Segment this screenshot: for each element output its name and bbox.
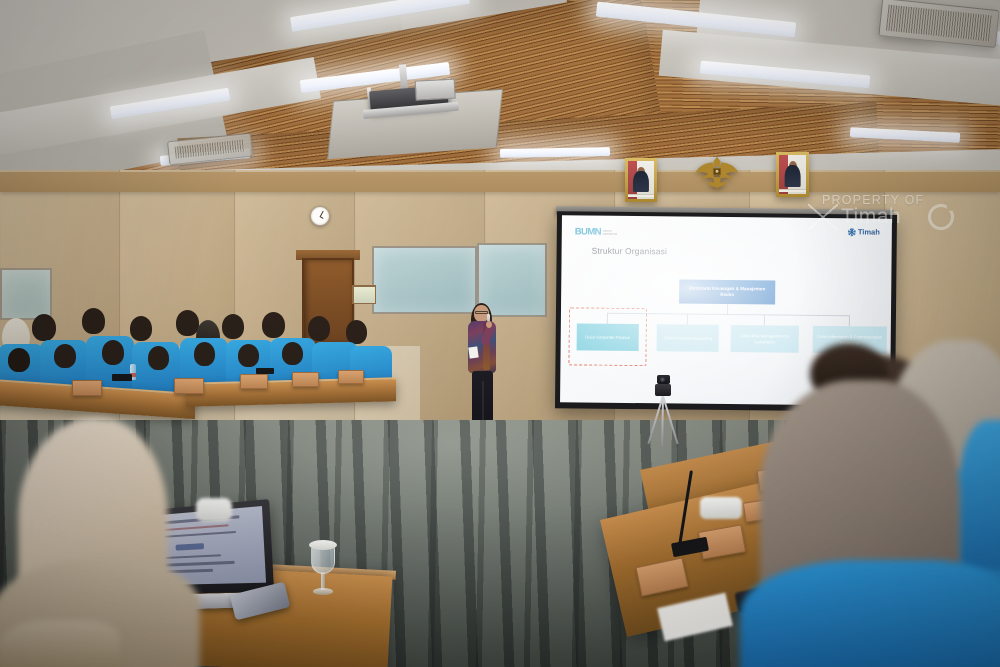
ceiling-light bbox=[500, 147, 610, 158]
wall-trim bbox=[0, 172, 1000, 192]
audience-head bbox=[130, 316, 152, 341]
snack-box bbox=[338, 370, 364, 384]
glass-lid bbox=[309, 540, 337, 550]
presenter-hand bbox=[486, 321, 492, 328]
snack-box bbox=[174, 378, 204, 394]
timah-compass-icon bbox=[848, 228, 856, 236]
bumn-logo: BUMN UNTUK INDONESIA bbox=[575, 226, 623, 238]
audience-head bbox=[282, 342, 303, 365]
foreground-person-body bbox=[0, 620, 120, 667]
projector-tray bbox=[415, 79, 456, 101]
slide-title: Struktur Organisasi bbox=[592, 246, 668, 257]
camera-tripod bbox=[646, 374, 680, 446]
ceiling-projector bbox=[360, 76, 457, 124]
audience-head bbox=[308, 316, 330, 341]
audience-head bbox=[82, 308, 105, 334]
snack-box bbox=[72, 380, 102, 396]
tripod-leg bbox=[662, 396, 679, 445]
presenter-notes bbox=[468, 346, 478, 358]
tripod-leg bbox=[661, 396, 664, 446]
org-connector bbox=[764, 314, 765, 325]
conference-microphone[interactable] bbox=[256, 368, 274, 374]
bumn-tagline: UNTUK INDONESIA bbox=[603, 229, 623, 235]
audience-head bbox=[148, 346, 169, 370]
org-connector bbox=[849, 315, 850, 326]
photo-scene: BUMN UNTUK INDONESIA Timah Struktur Orga… bbox=[0, 0, 1000, 667]
foreground-person-jacket bbox=[740, 560, 1000, 667]
tripod-head bbox=[655, 384, 671, 396]
audience-head bbox=[238, 344, 259, 367]
timah-logo: Timah bbox=[848, 227, 880, 236]
camera-lens-icon bbox=[660, 377, 665, 382]
foreground-person-jacket bbox=[960, 420, 1000, 570]
snack-box bbox=[240, 374, 268, 389]
audience-head bbox=[346, 320, 367, 344]
wall-clock bbox=[310, 206, 330, 226]
garuda-pancasila-emblem bbox=[695, 152, 739, 192]
snack-box bbox=[292, 372, 319, 387]
audience-head bbox=[262, 312, 285, 338]
audience-head bbox=[8, 348, 30, 372]
timah-wordmark: Timah bbox=[858, 227, 880, 236]
drinking-glass bbox=[308, 538, 338, 600]
bumn-wordmark: BUMN bbox=[575, 226, 601, 237]
conference-microphone[interactable] bbox=[112, 374, 132, 381]
official-portrait-left bbox=[625, 158, 657, 202]
org-child-box-corporate-finance: Divisi Corporate Finance bbox=[577, 323, 639, 351]
org-connector bbox=[727, 304, 728, 314]
official-portrait-right bbox=[776, 152, 809, 197]
tissue-pack bbox=[700, 497, 742, 519]
tissue-pack bbox=[196, 498, 232, 522]
audience-head bbox=[194, 342, 215, 366]
audience-head bbox=[32, 314, 56, 341]
audience-head bbox=[222, 314, 244, 339]
presenter-glasses bbox=[475, 311, 488, 314]
audience-head bbox=[54, 344, 76, 368]
org-connector bbox=[687, 314, 688, 325]
org-root-box: Direktorat Keuangan & Manajemen Risiko bbox=[679, 280, 775, 305]
audience-head bbox=[102, 340, 124, 365]
org-child-box-risk-management: Divisi Risk Management & Compliance bbox=[731, 325, 799, 353]
org-child-box-financial-accounting: Divisi Financial Accounting bbox=[657, 324, 719, 352]
